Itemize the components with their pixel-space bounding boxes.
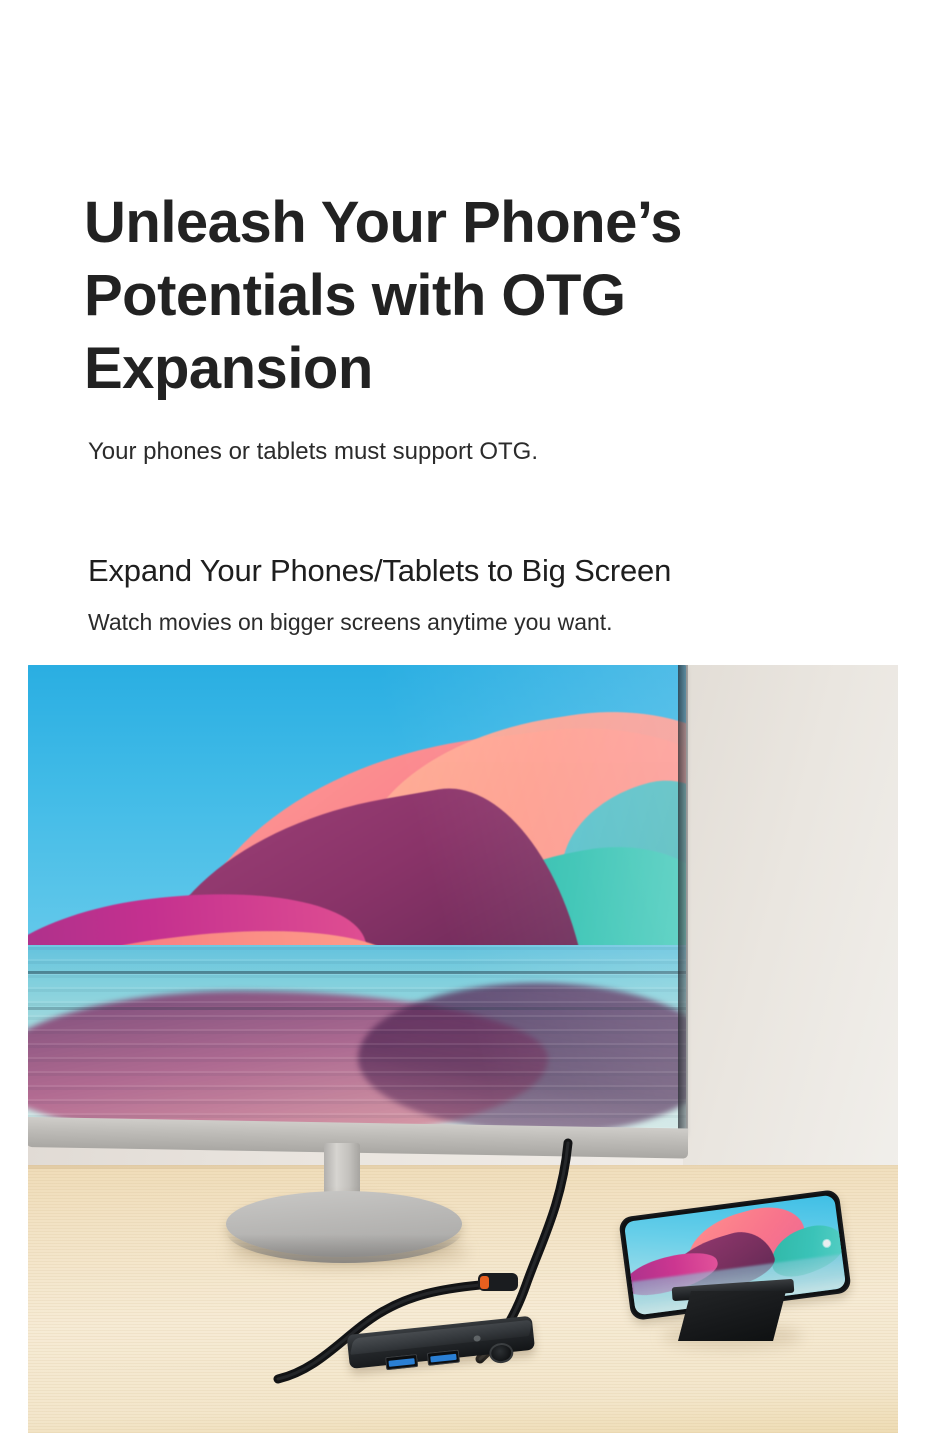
feature-heading: Expand Your Phones/Tablets to Big Screen [88, 552, 671, 591]
page-title: Unleash Your Phone’s Potentials with OTG… [84, 186, 814, 405]
phone-on-stand [606, 1203, 846, 1343]
hub-audio-jack [488, 1342, 514, 1364]
usb-port-2 [427, 1349, 460, 1365]
usb-port-1 [385, 1354, 418, 1370]
hero-subtitle: Your phones or tablets must support OTG. [88, 436, 538, 467]
feature-description: Watch movies on bigger screens anytime y… [88, 608, 613, 638]
product-lifestyle-photo [28, 665, 898, 1433]
hub-body [347, 1316, 536, 1369]
phone-stand-base [678, 1291, 786, 1341]
product-detail-page: Unleash Your Phone’s Potentials with OTG… [0, 0, 930, 1452]
text-content-block: Unleash Your Phone’s Potentials with OTG… [84, 186, 844, 405]
